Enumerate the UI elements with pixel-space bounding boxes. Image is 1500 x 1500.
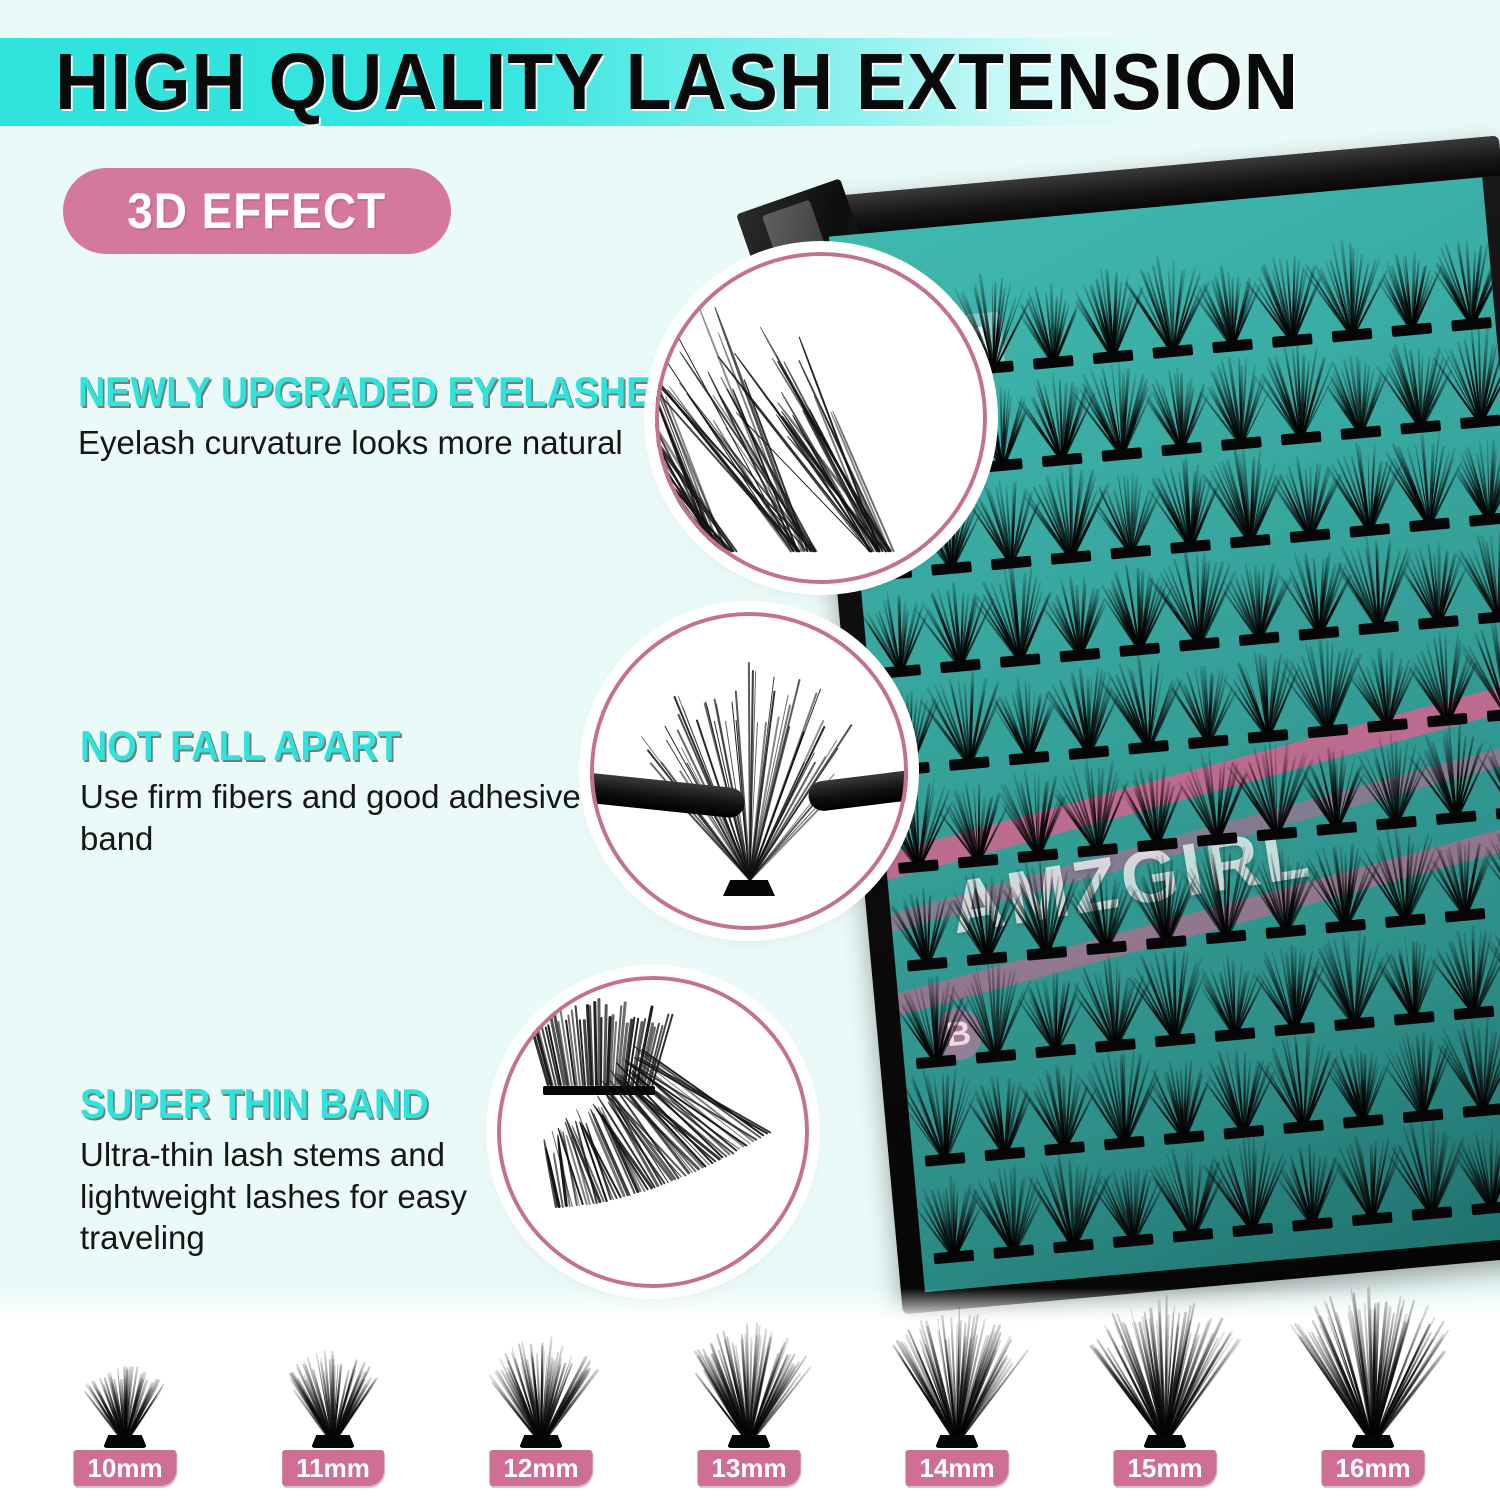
size-cell: 16mm [1278,1288,1468,1500]
lash-clump [1292,637,1356,736]
lash-clump [1447,1017,1500,1116]
lash-clump [1088,1049,1152,1148]
lash-clump [1278,1147,1341,1230]
lash-clump [1096,474,1159,557]
lash-clump [1241,740,1305,839]
lash-base [1113,1233,1154,1248]
lash-fan-base [103,1435,147,1448]
feature-block-super-thin-band: SUPER THIN BAND Ultra-thin lash stems an… [80,1080,500,1259]
lash-clump [1029,1063,1093,1154]
lash-clump [1131,857,1195,948]
size-badge: 11mm [282,1450,384,1486]
size-badge: 13mm [697,1450,800,1486]
lash-clump [1463,531,1500,622]
size-badge: 16mm [1321,1450,1424,1486]
lash-fan [1303,1295,1443,1444]
lash-clump [1200,957,1263,1040]
lash-clump [978,1166,1042,1257]
size-badge: 12mm [489,1450,592,1486]
lash-clump [1396,1120,1460,1219]
lash-fan [887,1320,1027,1444]
lash-fan-base [727,1435,771,1448]
lash-clump [1190,843,1254,942]
lash-clump [1019,285,1082,368]
size-badge: 14mm [905,1450,1008,1486]
lash-clump [1316,241,1380,340]
size-cell: 12mm [446,1288,636,1500]
callout-super-thin-band [497,976,809,1288]
lash-clump [1163,551,1227,650]
lash-clump [1112,654,1176,753]
lash-fan [263,1358,403,1445]
lash-clump [960,963,1024,1062]
lash-clump [1035,464,1099,563]
lash-base [1471,1201,1500,1216]
callout-lash-curvature [655,252,987,584]
feature-heading: SUPER THIN BAND [80,1080,458,1128]
lash-clump [1302,751,1365,834]
lash-clump [1080,960,1144,1051]
lash-curvature-closeup-icon [655,252,987,584]
lash-clump [1251,854,1314,937]
lash-clump [1388,1030,1452,1121]
lash-clump [1072,870,1135,953]
lash-clump [1139,946,1203,1045]
lash-clump [1214,448,1278,547]
lash-clump [943,783,1006,866]
tweezers-pulling-lash-cluster-icon [590,612,908,930]
lash-clump [1481,735,1500,818]
feature-block-not-fall-apart: NOT FALL APART Use firm fibers and good … [80,722,600,859]
feature-body: Eyelash curvature looks more natural [78,422,678,464]
lash-clump [1283,548,1347,639]
lash-clump [1471,621,1500,720]
feature-body: Ultra-thin lash stems and lightweight la… [80,1134,500,1259]
lash-clump [1430,838,1493,921]
lash-base [934,1250,975,1265]
size-cell: 11mm [238,1288,428,1500]
lash-clump [1257,255,1321,346]
lash-clump [1158,1150,1222,1241]
lash-clump [925,580,989,671]
lash-clump [1420,724,1484,823]
lash-clump [1310,840,1374,931]
lash-clump [1037,1152,1101,1251]
lash-fan-base [519,1435,563,1448]
badge-3d-effect: 3D EFFECT [63,168,451,254]
lash-base [1173,1228,1214,1243]
lash-clump [909,1066,973,1165]
lash-clump [1259,944,1323,1035]
infographic-canvas: HIGH QUALITY LASH EXTENSION 3D EFFECT NE… [0,0,1500,1500]
lash-clump [1217,1136,1281,1235]
lash-clump [1123,767,1186,850]
lash-size-comparison-row: 10mm11mm12mm13mm14mm15mm16mm [0,1288,1500,1500]
lash-clump [1206,358,1270,449]
lash-clump [1147,371,1210,454]
lash-clump [1265,345,1329,444]
feature-heading: NEWLY UPGRADED EYELASHES [78,368,618,416]
thin-band-lash-strip-icon [497,976,809,1288]
lash-clump [1393,431,1457,530]
lash-clump [1198,268,1261,351]
lash-clump [984,567,1048,666]
lash-fan [679,1333,819,1445]
lash-clump [1267,1033,1331,1132]
lash-clump [1149,1060,1212,1143]
lash-clump [1053,667,1117,758]
lash-clump [1062,757,1126,856]
lash-base [993,1244,1034,1259]
size-badge: 15mm [1113,1450,1216,1486]
size-badge: 10mm [73,1450,176,1486]
lash-clump [1078,271,1142,362]
lash-fan [471,1345,611,1444]
lash-clump [1343,534,1407,633]
lash-base [1053,1239,1094,1254]
lash-fan-base [1351,1435,1395,1448]
lash-clump [1379,941,1442,1024]
lash-clump [1045,577,1108,660]
lash-clump [1011,860,1075,959]
lash-clump [1318,930,1382,1029]
lash-clump [952,873,1016,964]
lash-base [1412,1206,1453,1221]
lash-band-base [723,880,775,896]
lash-clump [1369,827,1433,926]
size-cell: 14mm [862,1288,1052,1500]
callout-not-fall-apart [590,612,908,930]
feature-heading: NOT FALL APART [80,722,548,770]
lash-clump [1326,355,1389,438]
lash-fan [1095,1308,1235,1445]
lash-clump [1086,361,1150,460]
lash-clump [1444,328,1500,427]
lash-base [1352,1212,1393,1227]
lash-clump [1002,770,1066,861]
lash-fan-base [1143,1435,1187,1448]
feature-body: Use firm fibers and good adhesive band [80,776,600,859]
page-title: HIGH QUALITY LASH EXTENSION [55,36,1108,128]
lash-clump [1439,927,1500,1018]
lash-clump [1208,1047,1272,1138]
lash-base [1292,1217,1333,1232]
badge-3d-effect-label: 3D EFFECT [128,182,387,240]
size-cell: 13mm [654,1288,844,1500]
lash-clump [1137,258,1201,357]
size-cell: 15mm [1070,1288,1260,1500]
lash-clump [1155,461,1219,552]
lash-clump [933,670,997,769]
lash-fan [55,1370,195,1444]
lash-fan-base [935,1435,979,1448]
lash-base [1232,1223,1273,1238]
lash-clump [1174,664,1237,747]
feature-block-newly-upgraded: NEWLY UPGRADED EYELASHES Eyelash curvatu… [78,368,678,464]
lash-clump [1104,564,1168,655]
size-cell: 10mm [30,1288,220,1500]
lash-clump [1457,1130,1500,1213]
lash-clump [1377,252,1440,335]
lash-fan-base [311,1435,355,1448]
lash-clump [1361,737,1425,828]
lash-hair [717,332,803,552]
lash-clump [1455,442,1500,525]
lash-clump [1353,648,1416,731]
lash-clump [1385,342,1449,433]
lash-clump [1329,1044,1392,1127]
